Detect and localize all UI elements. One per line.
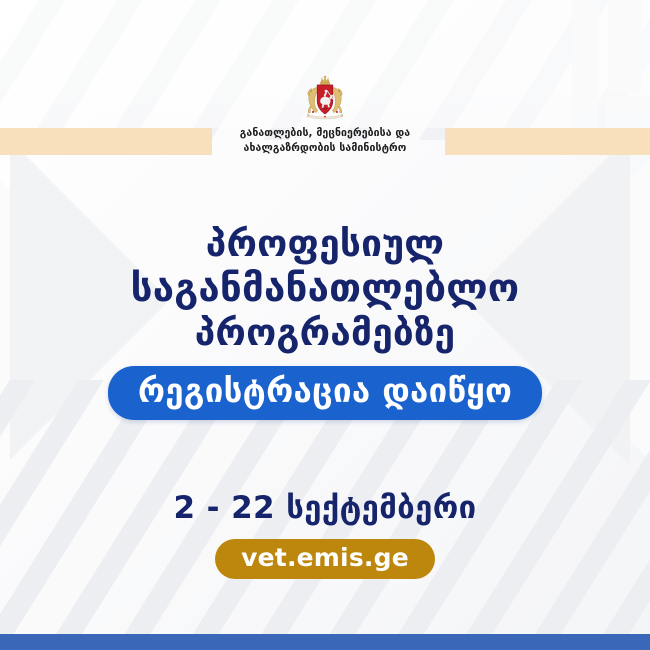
ministry-name-line-1: განათლების, მეცნიერებისა და (0, 126, 650, 141)
bottom-accent-bar (0, 634, 650, 650)
headline-line-1: პროფესიულ (0, 222, 650, 266)
ministry-name: განათლების, მეცნიერებისა და ახალგაზრდობი… (0, 126, 650, 156)
highlight-row: რეგისტრაცია დაიწყო (0, 366, 650, 420)
date-range: 2 - 22 სექტემბერი (0, 490, 650, 526)
website-link-button[interactable]: vet.emis.ge (215, 539, 435, 579)
registration-open-badge: რეგისტრაცია დაიწყო (108, 366, 542, 420)
promo-poster: განათლების, მეცნიერებისა და ახალგაზრდობი… (0, 0, 650, 650)
headline-line-3: პროგრამებზე (0, 311, 650, 355)
ministry-name-line-2: ახალგაზრდობის სამინისტრო (0, 141, 650, 156)
headline-line-2: საგანმანათლებლო (0, 266, 650, 311)
page-title: პროფესიულ საგანმანათლებლო პროგრამებზე (0, 222, 650, 355)
url-row: vet.emis.ge (0, 539, 650, 579)
georgia-coat-of-arms-icon (299, 74, 351, 126)
emblem-container (0, 74, 650, 126)
